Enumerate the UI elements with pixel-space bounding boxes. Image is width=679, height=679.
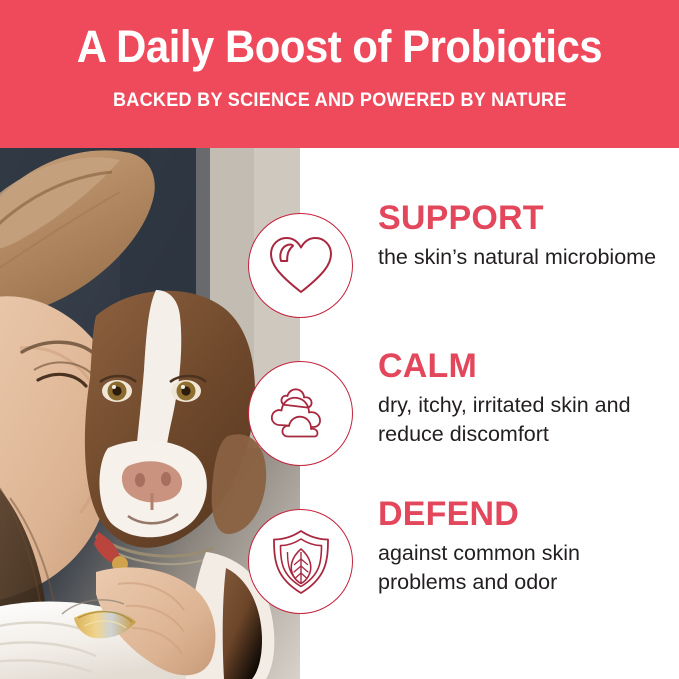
shield-leaf-icon-glyph [270, 528, 332, 596]
feature-heading: CALM [378, 346, 668, 386]
header-banner: A Daily Boost of Probiotics BACKED BY SC… [0, 0, 679, 148]
feature-row-calm: CALM dry, itchy, irritated skin and redu… [0, 338, 679, 488]
clouds-icon-glyph [266, 385, 336, 443]
heart-icon-glyph [268, 235, 334, 297]
feature-body: the skin’s natural microbiome [378, 243, 668, 272]
shield-leaf-icon [248, 509, 353, 614]
feature-text-support: SUPPORT the skin’s natural microbiome [378, 198, 668, 272]
heart-icon [248, 213, 353, 318]
feature-row-defend: DEFEND against common skin problems and … [0, 486, 679, 636]
feature-body: against common skin problems and odor [378, 539, 668, 597]
promo-infographic: A Daily Boost of Probiotics BACKED BY SC… [0, 0, 679, 679]
feature-heading: DEFEND [378, 494, 668, 534]
feature-row-support: SUPPORT the skin’s natural microbiome [0, 190, 679, 340]
feature-body: dry, itchy, irritated skin and reduce di… [378, 391, 668, 449]
page-title: A Daily Boost of Probiotics [77, 22, 602, 72]
feature-heading: SUPPORT [378, 198, 668, 238]
clouds-icon [248, 361, 353, 466]
page-subtitle: BACKED BY SCIENCE AND POWERED BY NATURE [113, 90, 567, 112]
feature-text-calm: CALM dry, itchy, irritated skin and redu… [378, 346, 668, 449]
feature-text-defend: DEFEND against common skin problems and … [378, 494, 668, 597]
